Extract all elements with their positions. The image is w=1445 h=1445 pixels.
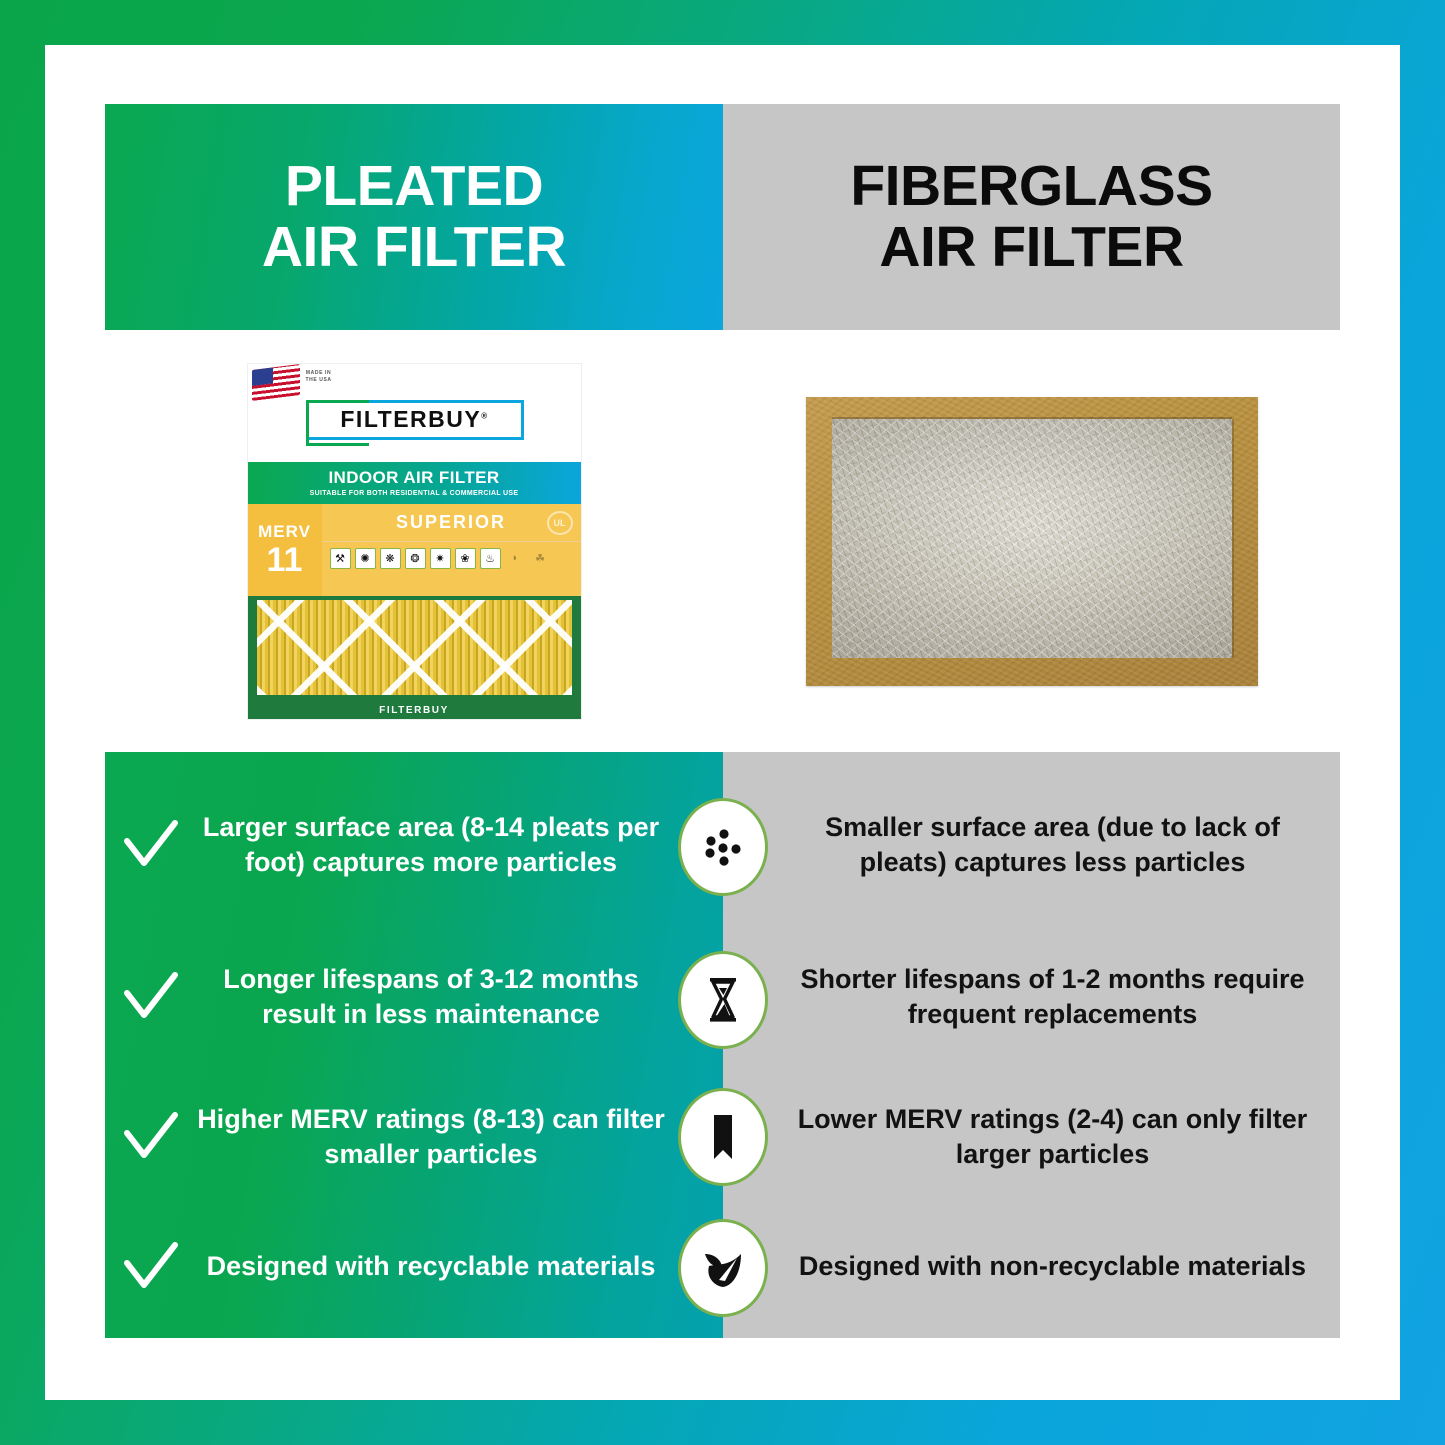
pollen-icon: ✷ bbox=[430, 548, 451, 569]
box-tier-row: SUPERIOR bbox=[322, 504, 581, 542]
checkmark-icon bbox=[105, 971, 197, 1023]
box-footer-brand: FILTERBUY bbox=[248, 705, 581, 716]
bacteria-icon: ☘ bbox=[530, 548, 551, 569]
fiberglass-frame-seam-top bbox=[832, 417, 1232, 419]
made-in-usa-label: MADE IN THE USA bbox=[306, 370, 332, 385]
comparison-row-right: Designed with non-recyclable materials bbox=[723, 1204, 1340, 1330]
bug-icon: ✺ bbox=[355, 548, 376, 569]
bookmark-icon bbox=[678, 1088, 768, 1186]
brand-trademark: ® bbox=[481, 411, 488, 420]
comparison-rows: Larger surface area (8-14 pleats per foo… bbox=[105, 752, 1340, 1338]
box-band-title: INDOOR AIR FILTER bbox=[328, 468, 499, 488]
header-pleated-line1: PLEATED bbox=[285, 154, 543, 218]
usa-flag-icon bbox=[252, 364, 300, 401]
checkmark-icon bbox=[105, 819, 197, 871]
made-in-line2: THE USA bbox=[306, 377, 332, 383]
fiberglass-frame-seam-right bbox=[1232, 419, 1234, 658]
comparison-right-text: Designed with non-recyclable materials bbox=[789, 1249, 1316, 1284]
merv-label: MERV bbox=[258, 522, 311, 542]
box-pleat-illustration: FILTERBUY bbox=[248, 596, 581, 719]
dust-icon: ⚒ bbox=[330, 548, 351, 569]
comparison-left-text: Longer lifespans of 3-12 months result i… bbox=[197, 962, 665, 1032]
pet-dander-icon: ❀ bbox=[455, 548, 476, 569]
comparison-row-left: Higher MERV ratings (8-13) can filter sm… bbox=[105, 1074, 723, 1200]
header-pleated-title: PLEATED AIR FILTER bbox=[262, 156, 566, 278]
particles-icon bbox=[678, 798, 768, 896]
box-tier-label: SUPERIOR bbox=[396, 512, 506, 533]
brand-name: FILTERBUY bbox=[340, 406, 481, 432]
fiberglass-filter-image bbox=[806, 397, 1258, 686]
product-image-row: MADE IN THE USA FILTERBUY® INDOOR AIR FI… bbox=[105, 330, 1340, 752]
odor-icon: ◗ bbox=[505, 548, 526, 569]
comparison-left-text: Larger surface area (8-14 pleats per foo… bbox=[197, 810, 665, 880]
comparison-row-right: Smaller surface area (due to lack of ple… bbox=[723, 770, 1340, 920]
fiberglass-mesh bbox=[832, 419, 1232, 658]
leaf-eco-icon bbox=[678, 1219, 768, 1317]
comparison-right-text: Shorter lifespans of 1-2 months require … bbox=[789, 962, 1316, 1032]
comparison-right-text: Lower MERV ratings (2-4) can only filter… bbox=[789, 1102, 1316, 1172]
comparison-row-left: Longer lifespans of 3-12 months result i… bbox=[105, 932, 723, 1062]
product-cell-pleated: MADE IN THE USA FILTERBUY® INDOOR AIR FI… bbox=[105, 330, 723, 752]
box-band-subtitle: SUITABLE FOR BOTH RESIDENTIAL & COMMERCI… bbox=[310, 490, 519, 497]
ul-certification-icon: UL bbox=[547, 511, 573, 535]
brand-logo-frame: FILTERBUY® bbox=[306, 400, 524, 440]
header-pleated: PLEATED AIR FILTER bbox=[105, 104, 723, 330]
box-feature-icon-row: ⚒ ✺ ❋ ❂ ✷ ❀ ♨ ◗ ☘ bbox=[330, 548, 551, 569]
comparison-row-left: Designed with recyclable materials bbox=[105, 1204, 723, 1330]
comparison-row-left: Larger surface area (8-14 pleats per foo… bbox=[105, 770, 723, 920]
header-fiberglass-title: FIBERGLASS AIR FILTER bbox=[850, 156, 1212, 278]
virus-icon: ❋ bbox=[380, 548, 401, 569]
header-fiberglass-line1: FIBERGLASS bbox=[850, 154, 1212, 218]
checkmark-icon bbox=[105, 1241, 197, 1293]
smoke-icon: ♨ bbox=[480, 548, 501, 569]
merv-value: 11 bbox=[267, 543, 303, 577]
box-color-band: INDOOR AIR FILTER SUITABLE FOR BOTH RESI… bbox=[248, 462, 581, 504]
box-merv-section: MERV 11 SUPERIOR UL ⚒ ✺ ❋ ❂ ✷ bbox=[248, 504, 581, 596]
product-cell-fiberglass bbox=[723, 330, 1340, 752]
header-fiberglass-line2: AIR FILTER bbox=[879, 215, 1183, 279]
infographic-page: PLEATED AIR FILTER FIBERGLASS AIR FILTER… bbox=[0, 0, 1445, 1445]
checkmark-icon bbox=[105, 1111, 197, 1163]
comparison-left-text: Designed with recyclable materials bbox=[197, 1249, 665, 1284]
comparison-right-text: Smaller surface area (due to lack of ple… bbox=[789, 810, 1316, 880]
header-pleated-line2: AIR FILTER bbox=[262, 215, 566, 279]
comparison-row-right: Shorter lifespans of 1-2 months require … bbox=[723, 932, 1340, 1062]
made-in-line1: MADE IN bbox=[306, 370, 331, 376]
hourglass-icon bbox=[678, 951, 768, 1049]
comparison-row-right: Lower MERV ratings (2-4) can only filter… bbox=[723, 1074, 1340, 1200]
mold-icon: ❂ bbox=[405, 548, 426, 569]
filterbuy-box-image: MADE IN THE USA FILTERBUY® INDOOR AIR FI… bbox=[248, 364, 581, 719]
header-fiberglass: FIBERGLASS AIR FILTER bbox=[723, 104, 1340, 330]
comparison-left-text: Higher MERV ratings (8-13) can filter sm… bbox=[197, 1102, 665, 1172]
header-row: PLEATED AIR FILTER FIBERGLASS AIR FILTER bbox=[105, 104, 1340, 330]
infographic-content: PLEATED AIR FILTER FIBERGLASS AIR FILTER… bbox=[105, 104, 1340, 1338]
pleat-media-texture bbox=[257, 600, 572, 695]
brand-logo-text: FILTERBUY® bbox=[340, 406, 488, 433]
merv-badge: MERV 11 bbox=[248, 504, 322, 596]
